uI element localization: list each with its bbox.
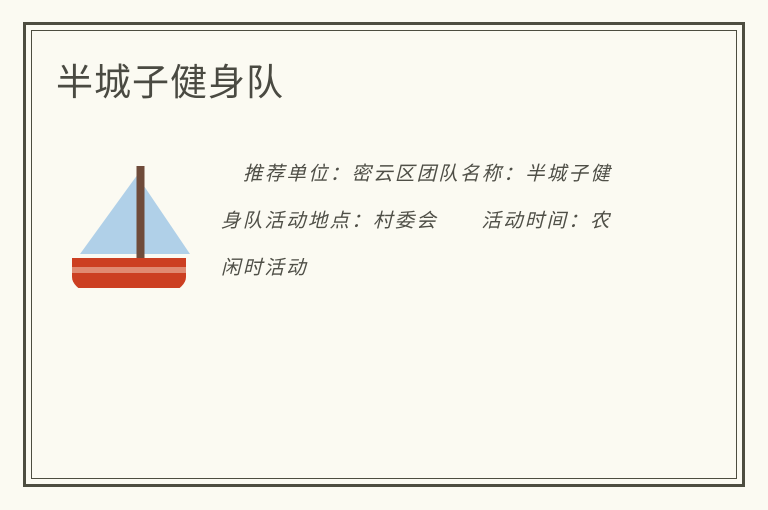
- team-info-text: 推荐单位：密云区团队名称：半城子健身队活动地点：村委会 活动时间：农闲时活动: [221, 150, 621, 291]
- page-title: 半城子健身队: [56, 60, 284, 106]
- body-row: 推荐单位：密云区团队名称：半城子健身队活动地点：村委会 活动时间：农闲时活动: [31, 150, 737, 380]
- poster-card: 半城子健身队 推荐单位：密云区团队名称：半城: [0, 0, 768, 510]
- info-line-recommending-unit: 推荐单位：密云区: [221, 162, 417, 185]
- info-line-activity: 活动地点：村委会 活动时间：农闲时活动: [221, 209, 612, 279]
- card-content: 半城子健身队 推荐单位：密云区团队名称：半城: [31, 30, 737, 479]
- sailboat-icon: [68, 160, 190, 288]
